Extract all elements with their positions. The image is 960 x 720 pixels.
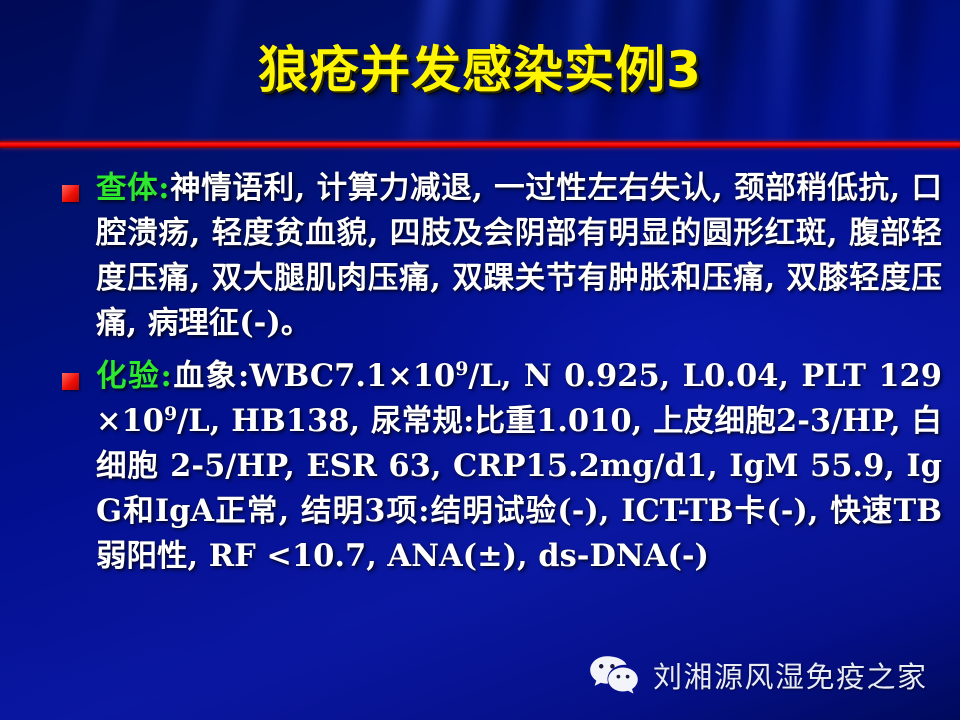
- section-lab-results: 化验:血象:WBC7.1×109/L, N 0.925, L0.04, PLT …: [0, 354, 960, 579]
- section-physical-exam-label: 查体:: [96, 170, 170, 206]
- section-lab-results-label: 化验:: [96, 358, 172, 394]
- lab-body-part-3: /L, HB138, 尿常规:比重1.010, 上皮细胞2-3/HP, 白细胞 …: [96, 403, 942, 574]
- section-physical-exam-text: 查体:神情语利, 计算力减退, 一过性左右失认, 颈部稍低抗, 口腔溃疡, 轻度…: [96, 166, 942, 346]
- section-physical-exam: 查体:神情语利, 计算力减退, 一过性左右失认, 颈部稍低抗, 口腔溃疡, 轻度…: [0, 166, 960, 346]
- footer-account-name: 刘湘源风湿免疫之家: [653, 654, 928, 696]
- bullet-marker-square: [62, 185, 79, 202]
- slide-canvas: 狼疮并发感染实例3 查体:神情语利, 计算力减退, 一过性左右失认, 颈部稍低抗…: [0, 0, 960, 720]
- lab-body-part-1: 血象:WBC7.1×10: [172, 358, 455, 394]
- slide-title: 狼疮并发感染实例3: [258, 44, 702, 97]
- title-divider-rule: [0, 141, 960, 148]
- section-physical-exam-body: 神情语利, 计算力减退, 一过性左右失认, 颈部稍低抗, 口腔溃疡, 轻度贫血貌…: [96, 170, 942, 341]
- section-lab-results-text: 化验:血象:WBC7.1×109/L, N 0.925, L0.04, PLT …: [96, 354, 942, 579]
- slide-header: 狼疮并发感染实例3: [0, 0, 960, 146]
- slide-body: 查体:神情语利, 计算力减退, 一过性左右失认, 颈部稍低抗, 口腔溃疡, 轻度…: [0, 166, 960, 587]
- slide-title-container: 狼疮并发感染实例3: [0, 44, 960, 97]
- lab-exponent-1: 9: [455, 358, 468, 380]
- footer-watermark: 刘湘源风湿免疫之家: [588, 654, 928, 696]
- wechat-icon: [588, 654, 640, 696]
- bullet-marker-square: [62, 373, 79, 390]
- lab-exponent-2: 9: [164, 403, 177, 425]
